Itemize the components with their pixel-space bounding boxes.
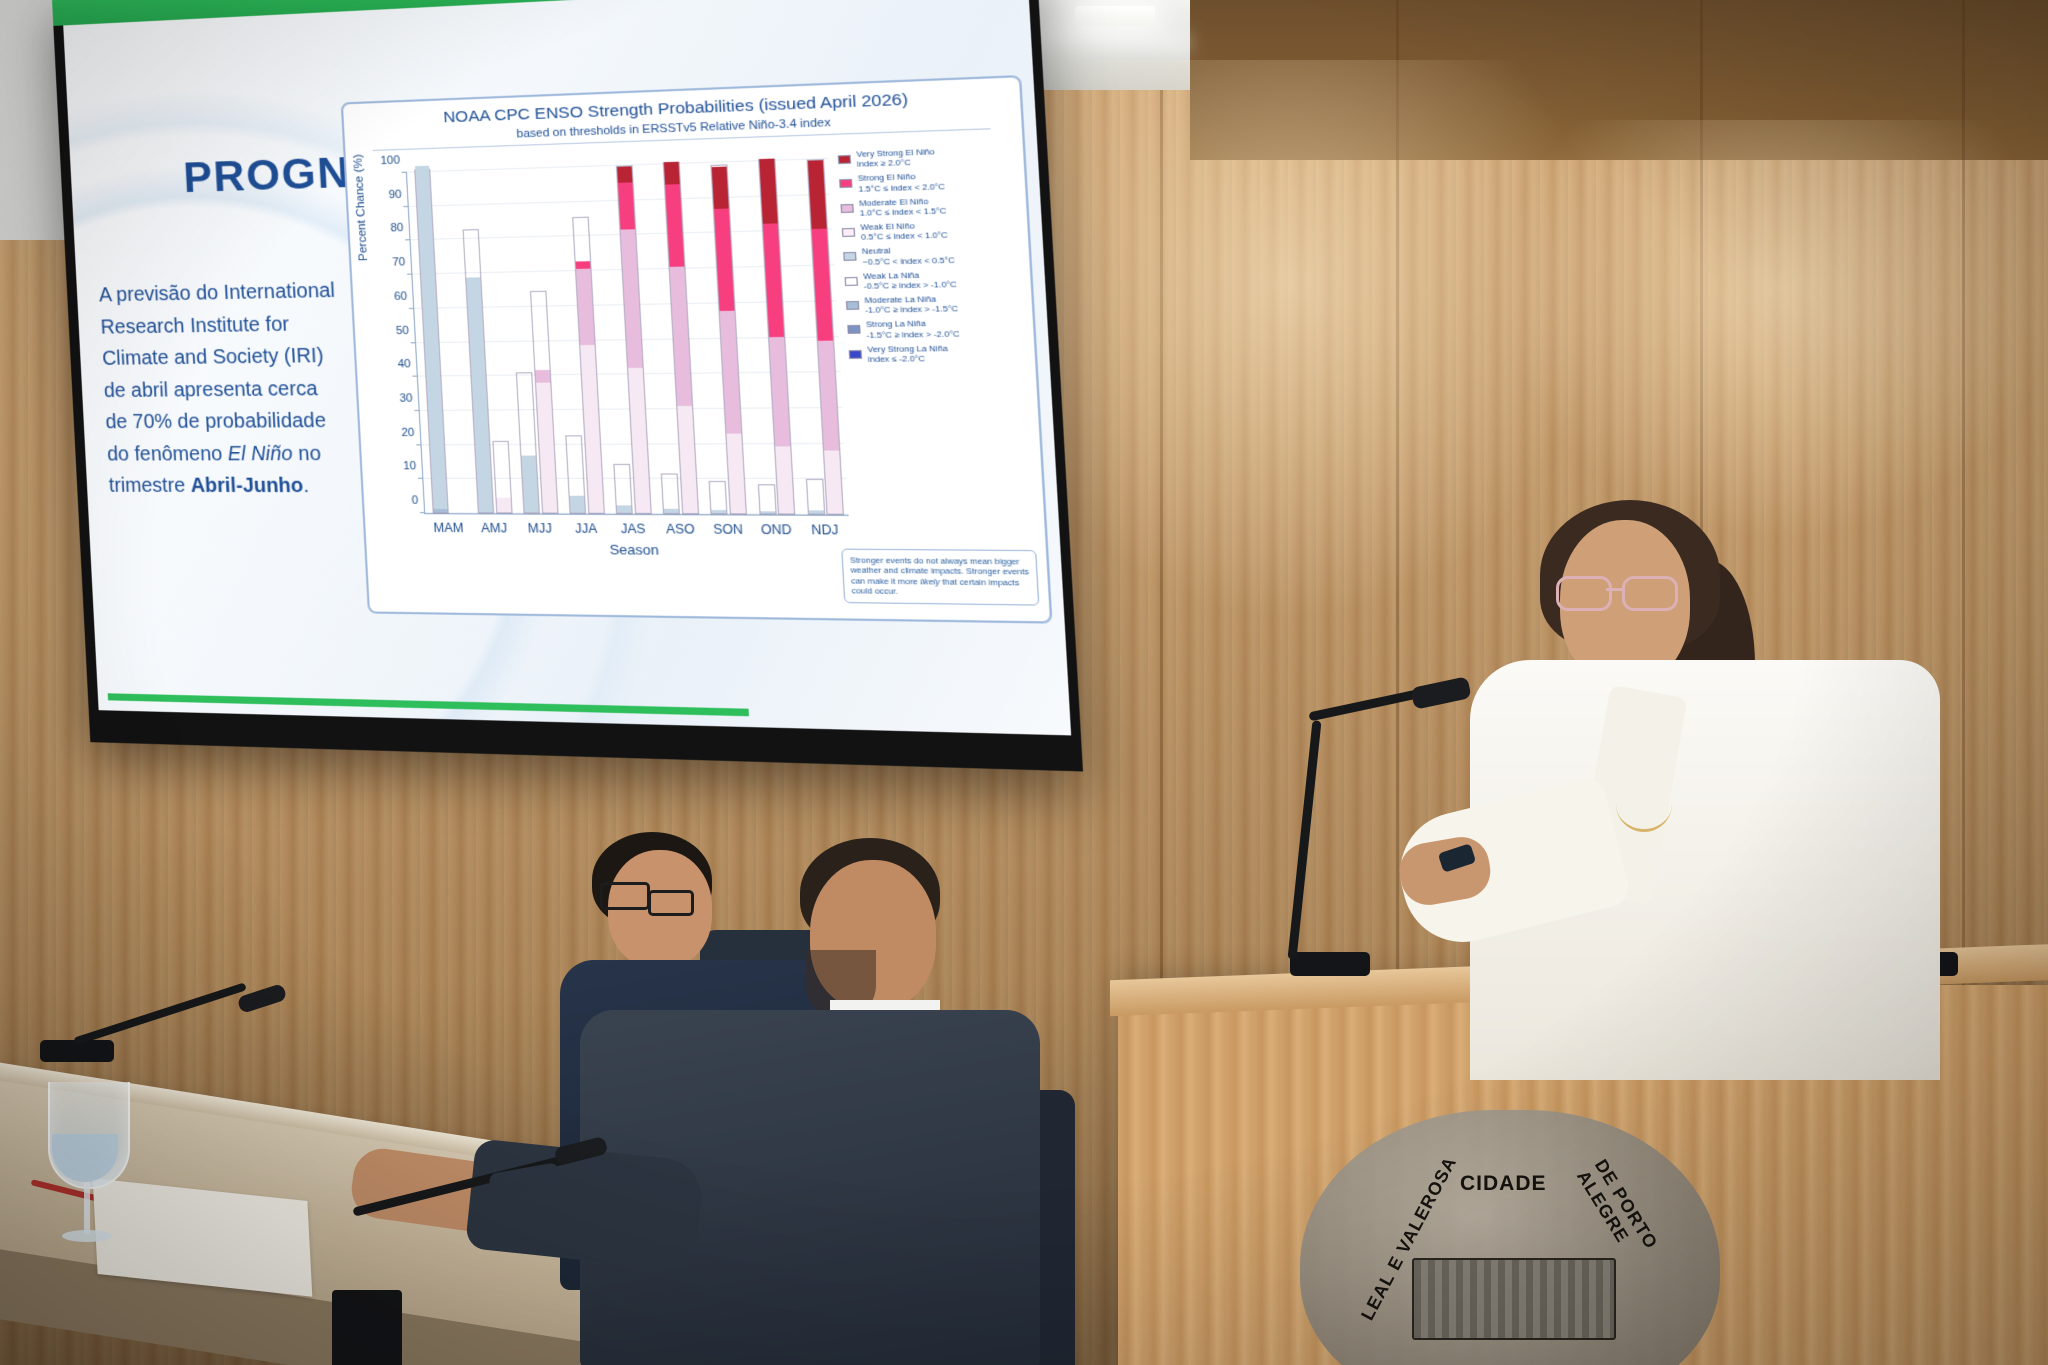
paragraph-line-elnino: fenômeno El Niño no: [134, 443, 322, 466]
legend-label: Very Strong El Niñoindex ≥ 2.0°C: [856, 147, 935, 170]
chart-bar-segment: [665, 184, 684, 266]
chart-bar-segment: [808, 160, 827, 229]
chart-plot: Season 0102030405060708090100MAMAMJMJJJJ…: [406, 159, 849, 516]
chart-bar-segment: [812, 229, 833, 341]
glass-foot: [62, 1230, 112, 1242]
chart-y-tick: 10: [403, 460, 417, 473]
paragraph-line: A previsão do: [98, 282, 218, 307]
legend-label-range: 1.0°C ≤ index < 1.5°C: [859, 206, 946, 219]
legend-label: Neutral−0.5°C < index < 0.5°C: [862, 244, 955, 267]
eyeglasses: [1556, 576, 1672, 606]
chart-y-tick: 30: [399, 392, 413, 405]
legend-swatch: [849, 349, 862, 358]
chart-bar-segment: [714, 209, 734, 312]
chart-x-axis-label: Season: [609, 542, 659, 558]
eyeglasses: [600, 882, 650, 910]
legend-swatch: [847, 325, 860, 334]
legend-swatch: [843, 252, 856, 261]
chart-bar-neutral: [613, 463, 632, 514]
paragraph-italic: El Niño: [227, 443, 293, 466]
legend-item: Strong El Niño1.5°C ≤ index < 2.0°C: [839, 169, 1016, 195]
paragraph-line-trimestre: trimestre Abril-Junho.: [108, 475, 309, 498]
legend-item: Very Strong La Niñaindex ≤ -2.0°C: [848, 342, 1025, 365]
chart-bar-elnino: [807, 159, 844, 515]
chart-x-tick: JJA: [575, 521, 598, 536]
water-glass: [48, 1082, 126, 1252]
chart-bar-segment: [712, 510, 727, 513]
annotation-italic-word: likely: [920, 576, 940, 586]
legend-label-range: 0.5°C ≤ index < 1.0°C: [861, 230, 948, 242]
chart-bar-segment: [763, 224, 784, 337]
legend-swatch: [842, 228, 855, 237]
projection-screen: PROGNÓSTICO CLIMÁTICO A previsão do Inte…: [52, 0, 1083, 771]
chart-bar-segment: [617, 506, 632, 513]
chart-x-tick: NDJ: [811, 522, 839, 537]
chart-bar-segment: [670, 266, 692, 406]
chart-x-tick: AMJ: [481, 521, 508, 536]
chart-plot-area: Percent Chance (%) Season 01020304050607…: [357, 152, 856, 566]
legend-label: Moderate La Niña-1.0°C ≥ index > -1.5°C: [864, 294, 958, 316]
chart-bar-segment: [760, 158, 779, 224]
legend-label: Weak El Niño0.5°C ≤ index < 1.0°C: [860, 220, 948, 243]
chart-bar-segment: [776, 446, 795, 513]
chart-y-tick: 80: [390, 222, 404, 235]
chart-bar-neutral: [757, 484, 776, 514]
chart-bar-segment: [536, 382, 557, 512]
chart-y-tick: 20: [401, 426, 415, 439]
chart-bar-segment: [415, 166, 447, 509]
legend-label: Strong El Niño1.5°C ≤ index < 2.0°C: [858, 171, 946, 194]
photo-scene: PROGNÓSTICO CLIMÁTICO A previsão do Inte…: [0, 0, 2048, 1365]
legend-label: Moderate El Niño1.0°C ≤ index < 1.5°C: [859, 195, 947, 218]
legend-swatch: [846, 301, 859, 310]
chart-bar-neutral: [805, 479, 824, 515]
chart-y-axis-label: Percent Chance (%): [352, 154, 370, 261]
city-emblem: LEAL E VALEROSA CIDADE DE PORTO ALEGRE: [1300, 1110, 1720, 1365]
chart-y-tick: 50: [396, 324, 410, 337]
wall-upper-dark: [1190, 0, 2048, 160]
chart-x-tick: ASO: [666, 522, 695, 537]
chart-y-tick: 0: [411, 494, 418, 507]
legend-label-range: -1.0°C ≥ index > -1.5°C: [865, 304, 958, 316]
legend-swatch: [839, 179, 852, 188]
legend-label: Very Strong La Niñaindex ≤ -2.0°C: [867, 343, 949, 365]
chart-bar-neutral: [565, 436, 586, 514]
legend-item: Weak La Niña-0.5°C ≥ index > -1.0°C: [844, 268, 1021, 292]
chart-bar-neutral: [414, 169, 449, 514]
chart-x-tick: MJJ: [527, 521, 552, 536]
chart-y-tick: 40: [397, 358, 411, 371]
chart-bar-segment: [664, 161, 680, 184]
chart-bar-neutral: [661, 474, 680, 514]
chart-bar-segment: [535, 370, 550, 382]
chart-bar-segment: [496, 498, 511, 513]
chart-bar-elnino: [492, 441, 512, 513]
legend-label-name: Very Strong La Niña: [867, 343, 948, 354]
legend-item: Moderate La Niña-1.0°C ≥ index > -1.5°C: [846, 292, 1023, 316]
legend-label-range: index ≥ 2.0°C: [857, 157, 936, 170]
legend-label-range: -1.5°C ≥ index > -2.0°C: [866, 328, 959, 340]
legend-swatch: [840, 204, 853, 213]
legend-label-range: −0.5°C < index < 0.5°C: [862, 255, 955, 267]
legend-swatch: [845, 276, 858, 285]
chart-bar-segment: [818, 340, 839, 450]
eyeglass-bridge: [1606, 588, 1622, 591]
paragraph-bold: Abril-Junho: [190, 475, 304, 498]
annotation-line: Stronger events do not always: [850, 555, 968, 566]
chart-header: NOAA CPC ENSO Strength Probabilities (is…: [343, 77, 1022, 152]
chart-bar-segment: [576, 268, 595, 345]
podium-microphone-base: [1290, 952, 1370, 976]
legend-item: Very Strong El Niñoindex ≥ 2.0°C: [837, 144, 1014, 170]
legend-label-range: -0.5°C ≥ index > -1.0°C: [864, 279, 957, 291]
chart-x-tick: JAS: [620, 521, 645, 536]
legend-label: Strong La Niña-1.5°C ≥ index > -2.0°C: [866, 318, 960, 340]
chart-bar-neutral: [709, 481, 728, 514]
chart-y-tick: 100: [380, 154, 400, 167]
legend-swatch: [838, 155, 851, 164]
legend-label-range: 1.5°C ≤ index < 2.0°C: [858, 181, 945, 194]
chart-legend: Very Strong El Niñoindex ≥ 2.0°CStrong E…: [837, 144, 1025, 368]
chart-annotation-box: Stronger events do not always mean bigge…: [841, 548, 1039, 606]
chart-y-tick: 90: [388, 188, 402, 201]
emblem-text-top: CIDADE: [1460, 1172, 1547, 1196]
ceiling-light: [1075, 6, 1155, 26]
chart-x-tick: SON: [713, 522, 743, 537]
legend-label: Weak La Niña-0.5°C ≥ index > -1.0°C: [863, 269, 957, 291]
chart-bar-segment: [621, 229, 643, 368]
chart-y-tick: 60: [394, 290, 408, 303]
eyeglass-lens-left: [1556, 576, 1612, 611]
eyeglass-lens-right: [1622, 576, 1678, 611]
chart-x-tick: OND: [760, 522, 792, 537]
presentation-slide: PROGNÓSTICO CLIMÁTICO A previsão do Inte…: [63, 0, 1071, 735]
emblem-castle-wall: [1412, 1258, 1616, 1340]
chart-bar-segment: [433, 509, 447, 512]
chart-bar-segment: [727, 433, 746, 513]
legend-item: Strong La Niña-1.5°C ≥ index > -2.0°C: [847, 317, 1024, 340]
chart-bar-segment: [570, 496, 585, 513]
chart-bar-segment: [808, 510, 823, 513]
chart-bar-segment: [466, 278, 493, 513]
chart-bar-segment: [770, 337, 791, 447]
enso-chart-card: NOAA CPC ENSO Strength Probabilities (is…: [341, 75, 1053, 624]
chart-bar-segment: [617, 166, 632, 182]
eyeglasses: [648, 890, 694, 916]
chart-x-tick: MAM: [433, 521, 464, 536]
chart-bar-segment: [825, 450, 844, 514]
glass-stem: [84, 1182, 90, 1234]
chart-bar-segment: [677, 406, 698, 513]
slide-paragraph: A previsão do International Research Ins…: [98, 275, 347, 503]
legend-item: Weak El Niño0.5°C ≤ index < 1.0°C: [842, 218, 1019, 243]
chart-bar-segment: [618, 182, 635, 229]
annotation-line-italic: make it more likely that certain: [867, 576, 986, 587]
legend-item: Moderate El Niño1.0°C ≤ index < 1.5°C: [840, 193, 1017, 218]
chart-bar-segment: [720, 311, 742, 433]
chart-bar-segment: [712, 167, 729, 209]
chart-bar-segment: [760, 511, 775, 513]
chart-bar-segment: [521, 455, 538, 512]
chart-y-tick: 70: [392, 256, 406, 269]
legend-item: Neutral−0.5°C < index < 0.5°C: [843, 243, 1020, 268]
chart-bar-segment: [576, 261, 591, 269]
microphone-base: [332, 1290, 402, 1365]
legend-label-range: index ≤ -2.0°C: [868, 353, 949, 364]
chart-bar-segment: [664, 509, 679, 513]
